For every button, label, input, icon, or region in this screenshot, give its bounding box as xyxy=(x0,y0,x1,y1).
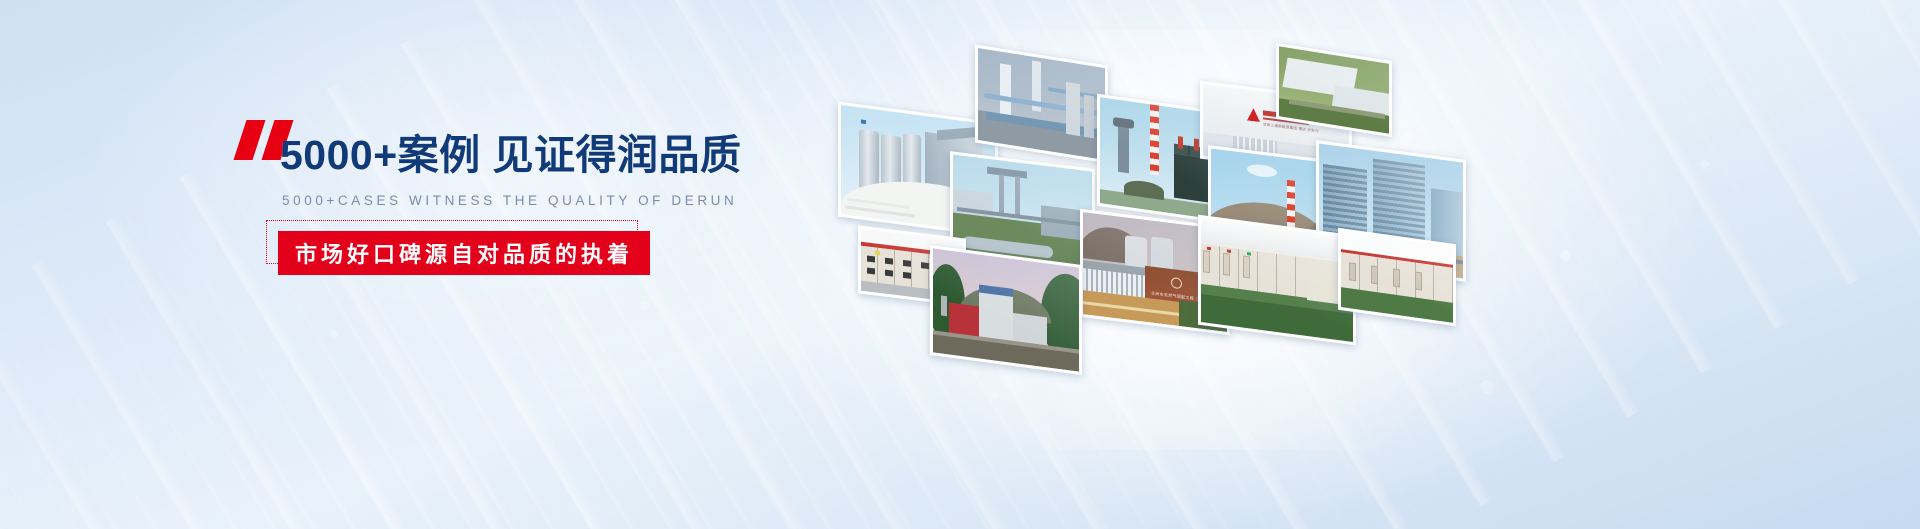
badge-label: 市场好口碑源自对品质的执着 xyxy=(295,237,633,269)
photo-white-warehouse[interactable] xyxy=(1338,228,1456,327)
project-photo-collage: 兰州市天然气调配工程（西固输气站） 甘肃三通新能源集团 博达 天安元 xyxy=(830,50,1510,350)
bokeh-particle xyxy=(640,300,650,310)
bokeh-particle xyxy=(1700,160,1709,169)
banner-headline: 5000+案例 见证得润品质 xyxy=(280,135,742,176)
bokeh-particle xyxy=(1560,250,1571,261)
bokeh-particle xyxy=(990,390,999,399)
banner-badge: 市场好口碑源自对品质的执着 xyxy=(266,220,686,278)
photo-image xyxy=(1279,46,1389,133)
case-study-banner: 5000+案例 见证得润品质 5000+CASES WITNESS THE QU… xyxy=(0,0,1920,529)
photo-image xyxy=(1201,218,1353,342)
photo-chemical-plant[interactable] xyxy=(975,44,1108,163)
photo-valley-factory[interactable] xyxy=(930,245,1082,375)
photo-switchgear-hall[interactable] xyxy=(1198,215,1356,346)
photo-image xyxy=(1341,231,1453,323)
badge-red-bar: 市场好口碑源自对品质的执着 xyxy=(278,231,650,275)
photo-image xyxy=(978,48,1105,160)
banner-subtitle-english: 5000+CASES WITNESS THE QUALITY OF DERUN xyxy=(282,193,737,208)
bokeh-particle xyxy=(330,330,338,338)
bokeh-particle xyxy=(760,90,772,102)
photo-image xyxy=(933,248,1079,371)
bokeh-particle xyxy=(1480,380,1494,394)
